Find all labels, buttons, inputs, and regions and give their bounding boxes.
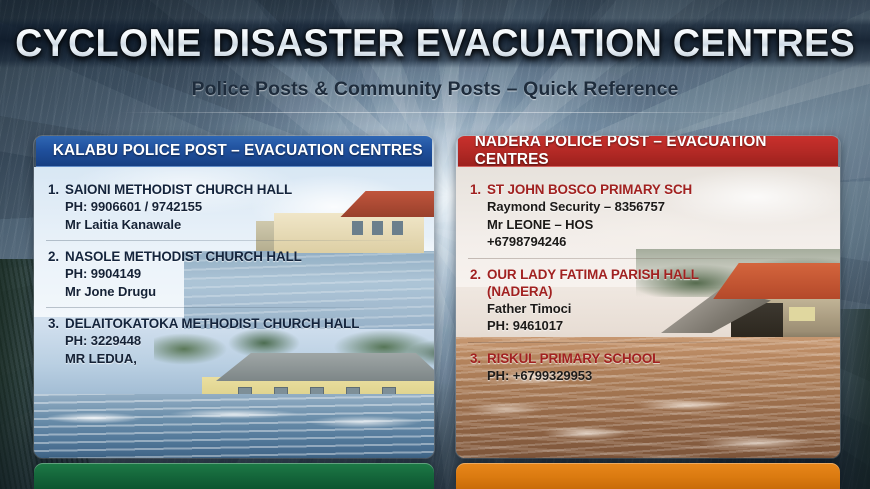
orange-card-peek[interactable] bbox=[456, 463, 840, 489]
list-divider bbox=[46, 240, 420, 241]
centre-number: 1. bbox=[470, 181, 487, 198]
centre-detail-line: PH: 9461017 bbox=[470, 317, 826, 335]
list-divider bbox=[468, 258, 826, 259]
list-item[interactable]: 2. NASOLE METHODIST CHURCH HALL PH: 9904… bbox=[34, 248, 434, 300]
kalabu-card-header: KALABU POLICE POST – EVACUATION CENTRES bbox=[36, 136, 432, 167]
list-item[interactable]: 3. RISKUL PRIMARY SCHOOL PH: +6799329953 bbox=[456, 350, 840, 385]
page-subtitle: Police Posts & Community Posts – Quick R… bbox=[0, 78, 870, 101]
green-card-peek[interactable] bbox=[34, 463, 434, 489]
centre-title: 2. NASOLE METHODIST CHURCH HALL bbox=[48, 248, 420, 265]
nadera-evacuation-list: 1. ST JOHN BOSCO PRIMARY SCH Raymond Sec… bbox=[456, 167, 840, 384]
centre-detail-line: MR LEDUA, bbox=[48, 350, 420, 368]
centre-detail-line: Mr LEONE – HOS bbox=[470, 216, 826, 234]
list-divider bbox=[46, 307, 420, 308]
centre-name-continuation: (NADERA) bbox=[470, 283, 826, 300]
centre-detail-line: PH: 3229448 bbox=[48, 332, 420, 350]
header-divider bbox=[120, 112, 750, 113]
nadera-card-header: NADERA POLICE POST – EVACUATION CENTRES bbox=[458, 136, 838, 167]
centre-number: 1. bbox=[48, 181, 65, 198]
list-item[interactable]: 1. SAIONI METHODIST CHURCH HALL PH: 9906… bbox=[34, 181, 434, 233]
centre-number: 2. bbox=[48, 248, 65, 265]
centre-number: 3. bbox=[470, 350, 487, 367]
centre-title: 3. RISKUL PRIMARY SCHOOL bbox=[470, 350, 826, 367]
centre-title: 3. DELAITOKATOKA METHODIST CHURCH HALL bbox=[48, 315, 420, 332]
centre-name: OUR LADY FATIMA PARISH HALL bbox=[487, 266, 699, 283]
nadera-card-body: 1. ST JOHN BOSCO PRIMARY SCH Raymond Sec… bbox=[456, 167, 840, 458]
centre-name: RISKUL PRIMARY SCHOOL bbox=[487, 350, 660, 367]
centre-detail-line: Mr Jone Drugu bbox=[48, 283, 420, 301]
centre-number: 3. bbox=[48, 315, 65, 332]
centre-detail-line: PH: +6799329953 bbox=[470, 367, 826, 385]
kalabu-police-post-card: KALABU POLICE POST – EVACUATION CENTRES bbox=[34, 136, 434, 458]
centre-name: ST JOHN BOSCO PRIMARY SCH bbox=[487, 181, 692, 198]
centre-title: 1. ST JOHN BOSCO PRIMARY SCH bbox=[470, 181, 826, 198]
kalabu-evacuation-list: 1. SAIONI METHODIST CHURCH HALL PH: 9906… bbox=[34, 167, 434, 367]
cyclone-evacuation-poster: CYCLONE DISASTER EVACUATION CENTRES Poli… bbox=[0, 0, 870, 489]
centre-detail-line: Raymond Security – 8356757 bbox=[470, 198, 826, 216]
list-item[interactable]: 2. OUR LADY FATIMA PARISH HALL (NADERA) … bbox=[456, 266, 840, 335]
centre-name: SAIONI METHODIST CHURCH HALL bbox=[65, 181, 292, 198]
centre-title: 2. OUR LADY FATIMA PARISH HALL bbox=[470, 266, 826, 283]
centre-detail-line: PH: 9906601 / 9742155 bbox=[48, 198, 420, 216]
flood-photo-foam bbox=[34, 406, 434, 432]
page-title: CYCLONE DISASTER EVACUATION CENTRES bbox=[13, 22, 857, 66]
list-divider bbox=[468, 342, 826, 343]
list-item[interactable]: 3. DELAITOKATOKA METHODIST CHURCH HALL P… bbox=[34, 315, 434, 367]
nadera-police-post-card: NADERA POLICE POST – EVACUATION CENTRES … bbox=[456, 136, 840, 458]
centre-title: 1. SAIONI METHODIST CHURCH HALL bbox=[48, 181, 420, 198]
centre-detail-line: +6798794246 bbox=[470, 233, 826, 251]
centre-detail-line: Mr Laitia Kanawale bbox=[48, 216, 420, 234]
kalabu-card-body: 1. SAIONI METHODIST CHURCH HALL PH: 9906… bbox=[34, 167, 434, 458]
centre-detail-line: Father Timoci bbox=[470, 300, 826, 318]
centre-name: DELAITOKATOKA METHODIST CHURCH HALL bbox=[65, 315, 359, 332]
list-item[interactable]: 1. ST JOHN BOSCO PRIMARY SCH Raymond Sec… bbox=[456, 181, 840, 251]
centre-name: NASOLE METHODIST CHURCH HALL bbox=[65, 248, 302, 265]
centre-number: 2. bbox=[470, 266, 487, 283]
centre-detail-line: PH: 9904149 bbox=[48, 265, 420, 283]
